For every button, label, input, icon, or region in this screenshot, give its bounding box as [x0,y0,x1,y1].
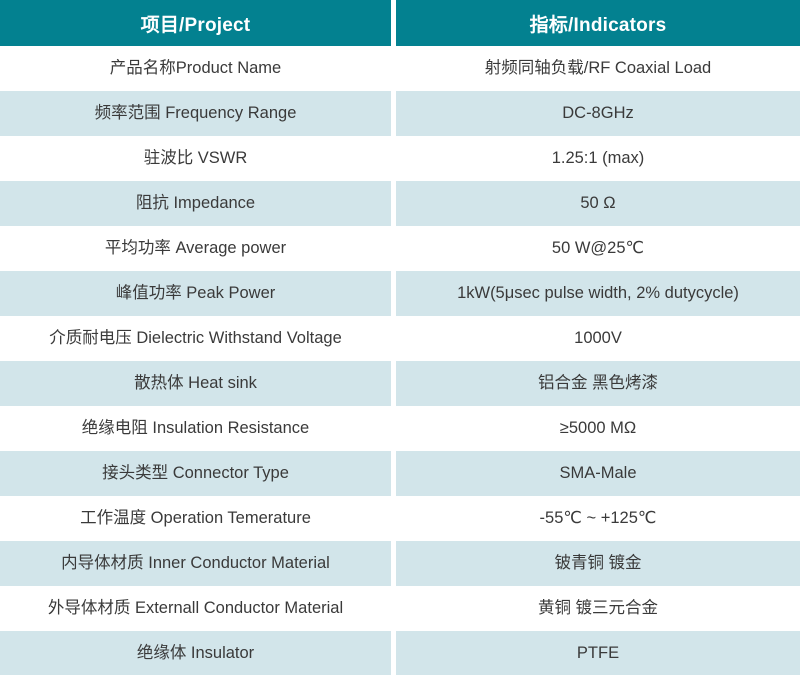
cell-indicator: 黄铜 镀三元合金 [396,586,800,631]
cell-project: 驻波比 VSWR [0,136,391,181]
table-row: 平均功率 Average power50 W@25℃ [0,226,800,271]
table-body: 产品名称Product Name射频同轴负载/RF Coaxial Load频率… [0,46,800,675]
cell-indicator: DC-8GHz [396,91,800,136]
cell-indicator: ≥5000 MΩ [396,406,800,451]
cell-project: 散热体 Heat sink [0,361,391,406]
cell-project: 绝缘电阻 Insulation Resistance [0,406,391,451]
column-header-project: 项目/Project [0,0,391,46]
cell-indicator: 铍青铜 镀金 [396,541,800,586]
table-row: 散热体 Heat sink铝合金 黑色烤漆 [0,361,800,406]
cell-indicator: 50 Ω [396,181,800,226]
table-row: 阻抗 Impedance50 Ω [0,181,800,226]
cell-indicator: 1kW(5μsec pulse width, 2% dutycycle) [396,271,800,316]
cell-project: 阻抗 Impedance [0,181,391,226]
cell-indicator: 50 W@25℃ [396,226,800,271]
cell-project: 接头类型 Connector Type [0,451,391,496]
table-row: 驻波比 VSWR1.25:1 (max) [0,136,800,181]
cell-indicator: SMA-Male [396,451,800,496]
cell-project: 绝缘体 Insulator [0,631,391,675]
table-header-row: 项目/Project 指标/Indicators [0,0,800,46]
cell-project: 频率范围 Frequency Range [0,91,391,136]
cell-project: 外导体材质 Externall Conductor Material [0,586,391,631]
table-row: 产品名称Product Name射频同轴负载/RF Coaxial Load [0,46,800,91]
cell-indicator: -55℃ ~ +125℃ [396,496,800,541]
cell-indicator: 1.25:1 (max) [396,136,800,181]
cell-project: 平均功率 Average power [0,226,391,271]
cell-project: 内导体材质 Inner Conductor Material [0,541,391,586]
cell-project: 峰值功率 Peak Power [0,271,391,316]
table-row: 工作温度 Operation Temerature-55℃ ~ +125℃ [0,496,800,541]
cell-project: 产品名称Product Name [0,46,391,91]
column-header-indicators: 指标/Indicators [396,0,800,46]
table-row: 接头类型 Connector TypeSMA-Male [0,451,800,496]
cell-indicator: 1000V [396,316,800,361]
cell-indicator: 铝合金 黑色烤漆 [396,361,800,406]
table-row: 绝缘电阻 Insulation Resistance≥5000 MΩ [0,406,800,451]
cell-project: 介质耐电压 Dielectric Withstand Voltage [0,316,391,361]
table-row: 频率范围 Frequency RangeDC-8GHz [0,91,800,136]
table-row: 峰值功率 Peak Power1kW(5μsec pulse width, 2%… [0,271,800,316]
table-row: 介质耐电压 Dielectric Withstand Voltage1000V [0,316,800,361]
cell-indicator: 射频同轴负载/RF Coaxial Load [396,46,800,91]
cell-project: 工作温度 Operation Temerature [0,496,391,541]
cell-indicator: PTFE [396,631,800,675]
table-header: 项目/Project 指标/Indicators [0,0,800,46]
table-row: 绝缘体 InsulatorPTFE [0,631,800,675]
table-row: 外导体材质 Externall Conductor Material黄铜 镀三元… [0,586,800,631]
table-row: 内导体材质 Inner Conductor Material铍青铜 镀金 [0,541,800,586]
specifications-table: 项目/Project 指标/Indicators 产品名称Product Nam… [0,0,800,675]
